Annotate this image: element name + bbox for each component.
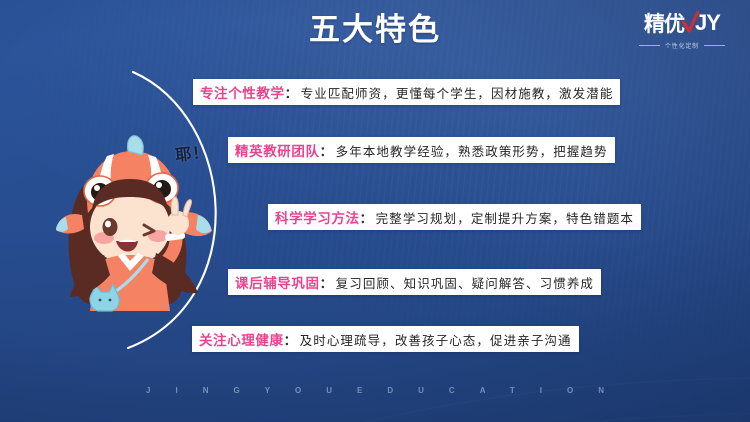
feature-5-colon: ： [284, 330, 297, 349]
feature-1-heading: 专注个性教学 [200, 82, 285, 102]
feature-row-2[interactable]: 精英教研团队 ： 多年本地教学经验，熟悉政策形势，把握趋势 [228, 137, 615, 163]
feature-row-3[interactable]: 科学学习方法 ： 完整学习规划，定制提升方案，特色错题本 [268, 204, 641, 230]
feature-3-body: 完整学习规划，定制提升方案，特色错题本 [376, 208, 634, 227]
feature-2-heading: 精英教研团队 [235, 140, 320, 160]
feature-5-heading: 关注心理健康 [199, 329, 284, 349]
feature-1-colon: ： [285, 83, 298, 102]
feature-2-colon: ： [320, 141, 333, 160]
feature-5-body: 及时心理疏导，改善孩子心态，促进亲子沟通 [300, 330, 572, 349]
feature-3-colon: ： [360, 208, 373, 227]
feature-row-1[interactable]: 专注个性教学 ： 专业匹配师资，更懂每个学生，因材施教，激发潜能 [193, 79, 620, 105]
footer-wordmark: JINGYOUEDUCATION [0, 386, 750, 395]
feature-3-heading: 科学学习方法 [275, 207, 360, 227]
feature-list: 专注个性教学 ： 专业匹配师资，更懂每个学生，因材施教，激发潜能 精英教研团队 … [0, 0, 750, 422]
feature-4-heading: 课后辅导巩固 [235, 272, 320, 292]
feature-4-body: 复习回顾、知识巩固、疑问解答、习惯养成 [336, 273, 594, 292]
presentation-slide: 五大特色 精优 JY 个性化定制 [0, 0, 750, 422]
feature-2-body: 多年本地教学经验，熟悉政策形势，把握趋势 [336, 141, 608, 160]
feature-row-5[interactable]: 关注心理健康 ： 及时心理疏导，改善孩子心态，促进亲子沟通 [192, 326, 579, 352]
feature-1-body: 专业匹配师资，更懂每个学生，因材施教，激发潜能 [301, 83, 614, 102]
feature-4-colon: ： [320, 273, 333, 292]
feature-row-4[interactable]: 课后辅导巩固 ： 复习回顾、知识巩固、疑问解答、习惯养成 [228, 269, 601, 295]
